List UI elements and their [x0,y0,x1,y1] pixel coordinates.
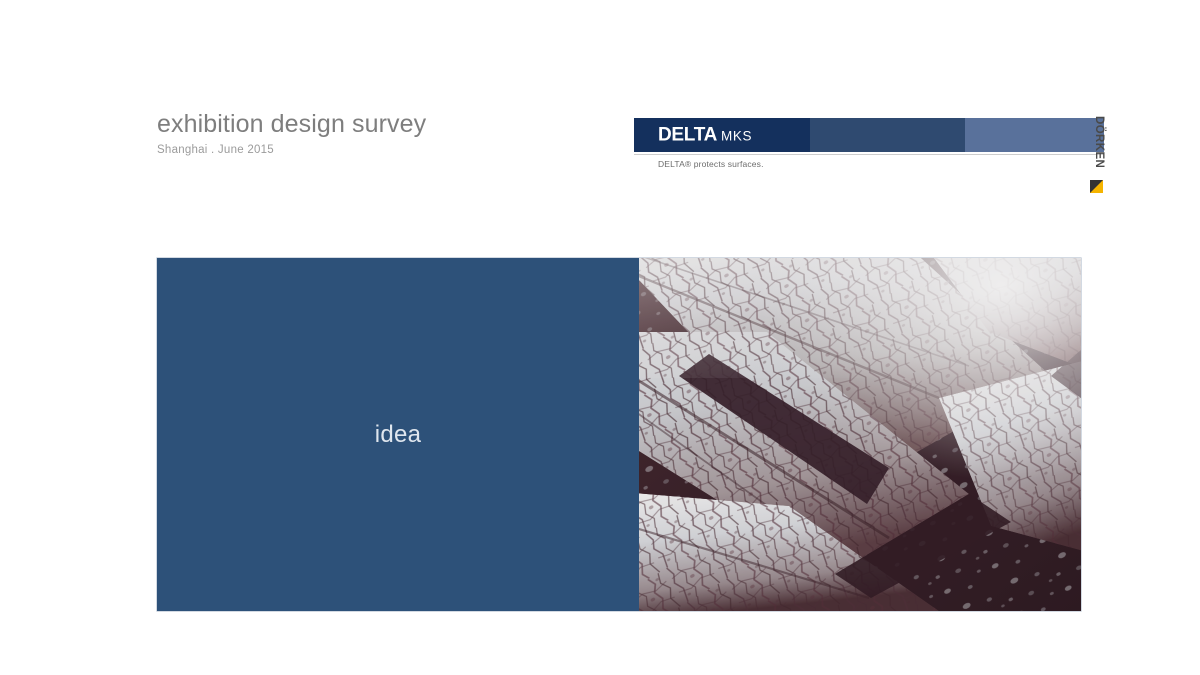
cracked-paint-photo [639,258,1081,611]
logo-brand-primary: DELTA [658,125,717,146]
header-title-block: exhibition design survey Shanghai . June… [157,111,426,156]
dorken-logo-mark-icon [1090,180,1103,193]
photo-canvas [639,258,1081,611]
logo-bar-segment-dark: DELTAMKS [634,118,810,152]
idea-panel: idea [157,258,639,611]
logo-wordmark: DELTAMKS [658,126,752,145]
idea-label: idea [375,423,422,447]
page-subtitle: Shanghai . June 2015 [157,144,426,156]
logo-bar-segment-light [965,118,1104,152]
logo-tagline: DELTA® protects surfaces. [658,159,1104,169]
logo-brand-secondary: MKS [721,129,752,144]
logo-bar-segment-medium [810,118,965,152]
logo-color-bar: DELTAMKS [634,118,1104,152]
content-row: idea [157,258,1081,611]
slide-canvas: exhibition design survey Shanghai . June… [0,0,1200,675]
logo-divider-line [634,154,1104,155]
page-title: exhibition design survey [157,111,426,139]
dorken-wordmark: DÖRKEN [1090,116,1104,178]
photo-image [639,258,1081,611]
dorken-brand-block: DÖRKEN [1090,116,1116,198]
delta-mks-logo-block: DELTAMKS DELTA® protects surfaces. [634,118,1104,198]
